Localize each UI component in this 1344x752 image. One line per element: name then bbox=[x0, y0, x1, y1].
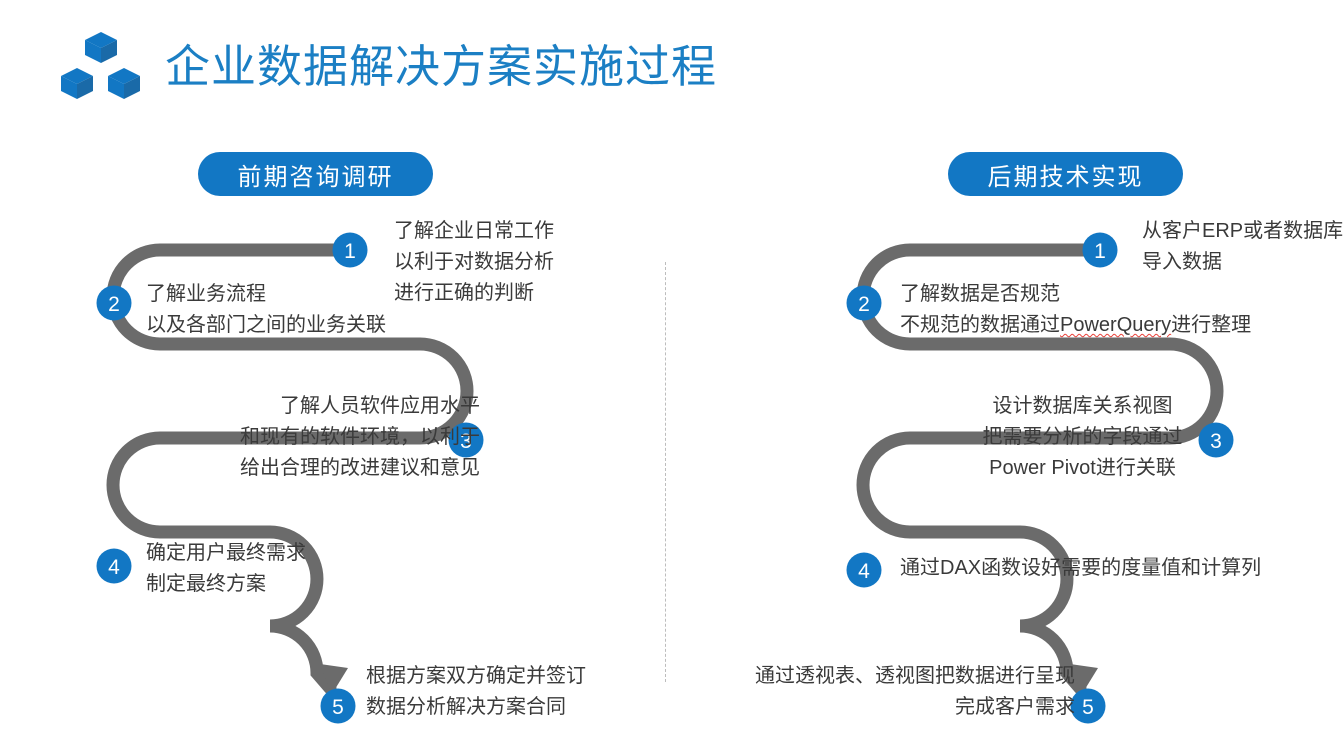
step-number-left-4: 4 bbox=[108, 556, 120, 579]
step-line-part: 进行整理 bbox=[1171, 314, 1251, 336]
step-marker-right-5[interactable]: 5 bbox=[1071, 689, 1106, 724]
step-line: 以利于对数据分析 bbox=[394, 247, 554, 278]
step-line: 从客户ERP或者数据库 bbox=[1142, 216, 1343, 247]
step-line: 给出合理的改进建议和意见 bbox=[215, 453, 480, 484]
step-number-right-5: 5 bbox=[1082, 696, 1094, 719]
step-line-with-spellcheck: 不规范的数据通过PowerQuery进行整理 bbox=[900, 310, 1251, 341]
step-marker-left-1[interactable]: 1 bbox=[333, 233, 368, 268]
step-text-right-3: 设计数据库关系视图 把需要分析的字段通过 Power Pivot进行关联 bbox=[975, 391, 1190, 484]
step-line: 和现有的软件环境，以利于 bbox=[215, 422, 480, 453]
step-text-right-2: 了解数据是否规范 不规范的数据通过PowerQuery进行整理 bbox=[900, 279, 1251, 341]
step-line: 完成客户需求 bbox=[735, 692, 1075, 723]
step-line: 了解业务流程 bbox=[146, 279, 386, 310]
step-text-left-1: 了解企业日常工作 以利于对数据分析 进行正确的判断 bbox=[394, 216, 554, 309]
step-line: 通过透视表、透视图把数据进行呈现 bbox=[735, 661, 1075, 692]
step-line: 制定最终方案 bbox=[146, 569, 306, 600]
step-text-left-3: 了解人员软件应用水平 和现有的软件环境，以利于 给出合理的改进建议和意见 bbox=[215, 391, 480, 484]
step-number-left-1: 1 bbox=[344, 240, 356, 263]
step-text-left-2: 了解业务流程 以及各部门之间的业务关联 bbox=[146, 279, 386, 341]
step-line: 了解数据是否规范 bbox=[900, 279, 1251, 310]
step-marker-right-2[interactable]: 2 bbox=[847, 286, 882, 321]
step-text-right-1: 从客户ERP或者数据库 导入数据 bbox=[1142, 216, 1343, 278]
step-line: 进行正确的判断 bbox=[394, 278, 554, 309]
step-line: 把需要分析的字段通过 bbox=[975, 422, 1190, 453]
step-marker-left-4[interactable]: 4 bbox=[97, 549, 132, 584]
step-number-left-5: 5 bbox=[332, 696, 344, 719]
step-line: 通过DAX函数设好需要的度量值和计算列 bbox=[900, 553, 1261, 584]
step-number-right-2: 2 bbox=[858, 293, 870, 316]
step-marker-left-5[interactable]: 5 bbox=[321, 689, 356, 724]
step-line: 导入数据 bbox=[1142, 247, 1343, 278]
step-line: Power Pivot进行关联 bbox=[975, 453, 1190, 484]
step-line: 了解企业日常工作 bbox=[394, 216, 554, 247]
step-number-right-3: 3 bbox=[1210, 430, 1222, 453]
step-number-left-2: 2 bbox=[108, 293, 120, 316]
flow-diagram: 1 2 3 4 5 1 2 bbox=[0, 0, 1344, 752]
step-text-right-5: 通过透视表、透视图把数据进行呈现 完成客户需求 bbox=[735, 661, 1075, 723]
step-marker-right-4[interactable]: 4 bbox=[847, 553, 882, 588]
step-line: 确定用户最终需求 bbox=[146, 538, 306, 569]
step-line: 设计数据库关系视图 bbox=[975, 391, 1190, 422]
step-line: 根据方案双方确定并签订 bbox=[366, 661, 586, 692]
step-text-right-4: 通过DAX函数设好需要的度量值和计算列 bbox=[900, 553, 1261, 584]
step-line: 以及各部门之间的业务关联 bbox=[146, 310, 386, 341]
step-marker-right-1[interactable]: 1 bbox=[1083, 233, 1118, 268]
step-number-right-4: 4 bbox=[858, 560, 870, 583]
step-number-right-1: 1 bbox=[1094, 240, 1106, 263]
step-marker-right-3[interactable]: 3 bbox=[1199, 423, 1234, 458]
step-line: 了解人员软件应用水平 bbox=[215, 391, 480, 422]
slide-canvas: 企业数据解决方案实施过程 前期咨询调研 后期技术实现 1 2 3 bbox=[0, 0, 1344, 752]
step-line-part: 不规范的数据通过 bbox=[900, 314, 1060, 336]
step-text-left-4: 确定用户最终需求 制定最终方案 bbox=[146, 538, 306, 600]
step-text-left-5: 根据方案双方确定并签订 数据分析解决方案合同 bbox=[366, 661, 586, 723]
misspelled-word: PowerQuery bbox=[1060, 314, 1171, 336]
step-marker-left-2[interactable]: 2 bbox=[97, 286, 132, 321]
step-line: 数据分析解决方案合同 bbox=[366, 692, 586, 723]
